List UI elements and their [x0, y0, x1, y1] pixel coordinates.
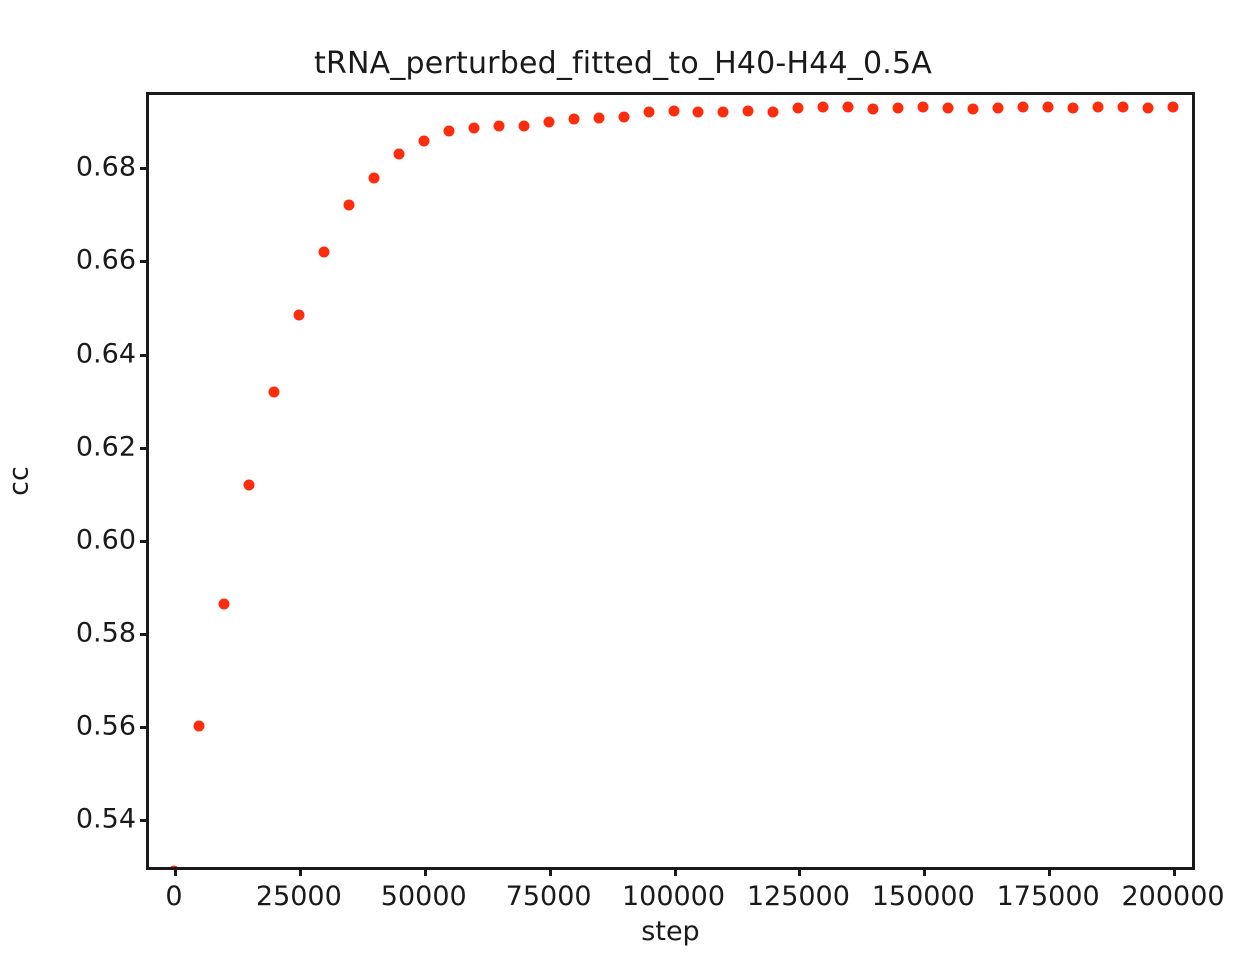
y-tick-label: 0.58: [76, 618, 136, 649]
data-point: [993, 102, 1004, 113]
data-point: [943, 102, 954, 113]
y-tick-label: 0.64: [76, 338, 136, 369]
y-tick-mark: [140, 540, 149, 543]
x-tick-label: 0: [165, 881, 182, 912]
y-tick-label: 0.56: [76, 711, 136, 742]
data-point: [968, 104, 979, 115]
data-point: [243, 479, 254, 490]
x-tick-mark: [1048, 867, 1051, 876]
plot-axes: 0.540.560.580.600.620.640.660.68 0250005…: [146, 92, 1195, 870]
data-point: [568, 113, 579, 124]
data-point: [643, 107, 654, 118]
x-tick-mark: [674, 867, 677, 876]
data-point: [443, 125, 454, 136]
x-tick-mark: [798, 867, 801, 876]
x-axis-label: step: [146, 916, 1195, 947]
data-point: [318, 246, 329, 257]
data-point: [543, 116, 554, 127]
data-point: [618, 111, 629, 122]
x-tick-label: 125000: [747, 881, 850, 912]
y-tick-mark: [140, 819, 149, 822]
data-point: [368, 173, 379, 184]
data-point: [718, 107, 729, 118]
y-tick-mark: [140, 447, 149, 450]
x-tick-mark: [1173, 867, 1176, 876]
data-point: [1118, 101, 1129, 112]
x-tick-label: 75000: [506, 881, 592, 912]
y-tick-mark: [140, 354, 149, 357]
data-point: [893, 102, 904, 113]
data-point: [218, 599, 229, 610]
x-tick-mark: [549, 867, 552, 876]
data-point: [1068, 102, 1079, 113]
data-point: [1093, 101, 1104, 112]
data-point: [343, 200, 354, 211]
data-point: [393, 149, 404, 160]
data-point: [1143, 102, 1154, 113]
y-tick-mark: [140, 260, 149, 263]
data-point: [668, 106, 679, 117]
data-point: [468, 123, 479, 134]
y-tick-label: 0.68: [76, 152, 136, 183]
x-tick-label: 100000: [622, 881, 725, 912]
x-tick-label: 50000: [381, 881, 467, 912]
page-title: tRNA_perturbed_fitted_to_H40-H44_0.5A: [0, 46, 1246, 81]
data-point: [793, 102, 804, 113]
data-point: [493, 121, 504, 132]
data-point: [768, 107, 779, 118]
y-tick-label: 0.54: [76, 804, 136, 835]
data-point: [293, 310, 304, 321]
data-point: [843, 101, 854, 112]
y-tick-label: 0.60: [76, 524, 136, 555]
data-point: [1043, 101, 1054, 112]
x-tick-label: 200000: [1121, 881, 1224, 912]
data-point: [743, 106, 754, 117]
scatter-plot-area: [149, 95, 1192, 867]
x-tick-label: 175000: [997, 881, 1100, 912]
data-point: [693, 107, 704, 118]
data-point: [818, 101, 829, 112]
data-point: [918, 101, 929, 112]
y-tick-label: 0.66: [76, 245, 136, 276]
data-point: [868, 103, 879, 114]
y-tick-mark: [140, 726, 149, 729]
x-tick-mark: [174, 867, 177, 876]
y-tick-mark: [140, 167, 149, 170]
data-point: [418, 136, 429, 147]
x-tick-mark: [299, 867, 302, 876]
x-tick-label: 25000: [256, 881, 342, 912]
x-tick-mark: [424, 867, 427, 876]
data-point: [1018, 101, 1029, 112]
figure-canvas: tRNA_perturbed_fitted_to_H40-H44_0.5A 0.…: [0, 0, 1246, 965]
data-point: [518, 121, 529, 132]
y-tick-mark: [140, 633, 149, 636]
data-point: [1168, 101, 1179, 112]
x-tick-label: 150000: [872, 881, 975, 912]
y-axis-label: cc: [3, 466, 34, 496]
data-point: [193, 721, 204, 732]
x-tick-mark: [923, 867, 926, 876]
y-tick-label: 0.62: [76, 431, 136, 462]
data-point: [268, 386, 279, 397]
data-point: [593, 112, 604, 123]
